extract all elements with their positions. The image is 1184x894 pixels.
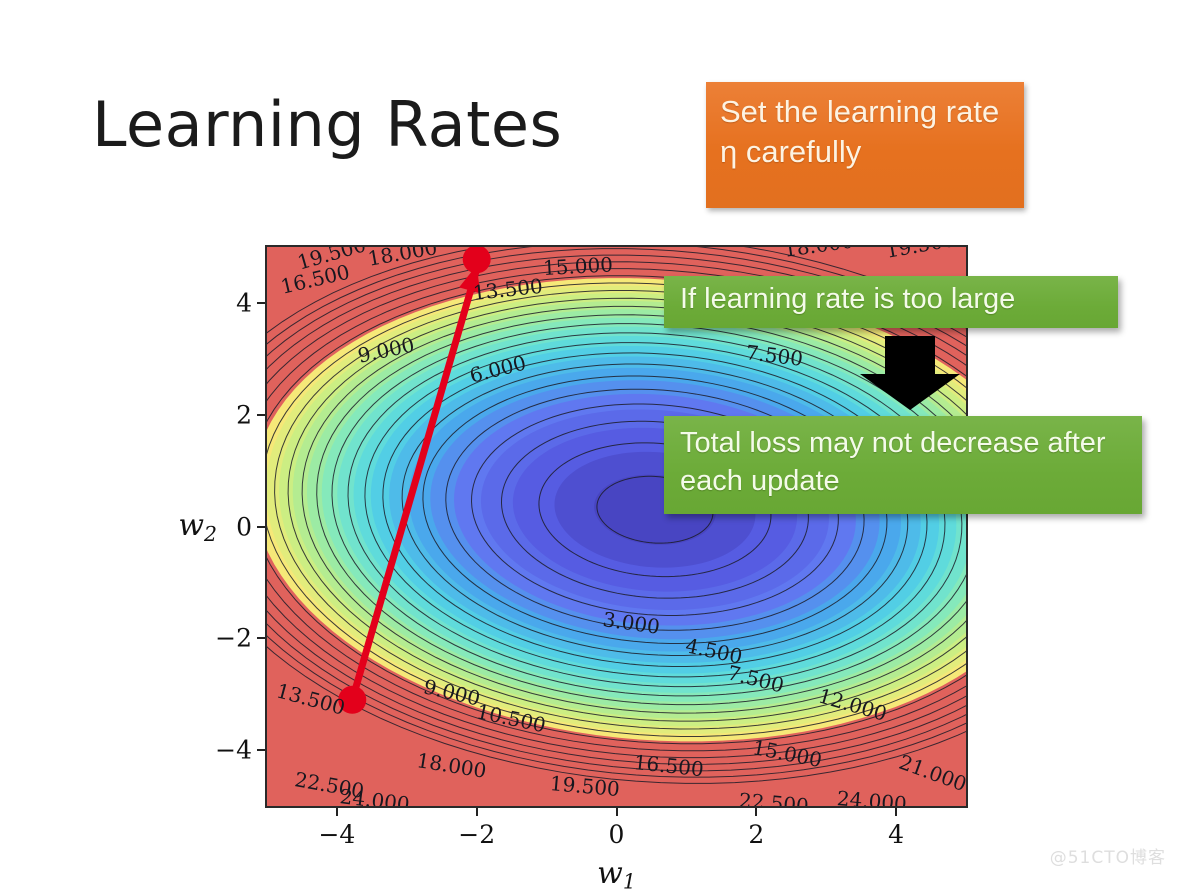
green-callout-total-loss: Total loss may not decrease after each u… [664,416,1142,514]
y-tick-mark [257,637,265,639]
contour-plot: 19.50018.00016.50015.00013.50018.00019.5… [265,245,968,808]
x-tick-label: −2 [458,820,495,849]
y-tick-mark [257,749,265,751]
y-axis-label: w2 [178,508,217,546]
x-tick-mark [755,808,757,816]
page-title: Learning Rates [92,88,562,161]
y-tick-mark [257,526,265,528]
y-tick-label: −2 [215,624,252,653]
watermark: @51CTO博客 [1050,843,1166,868]
y-axis-subscript: 2 [204,521,217,545]
x-tick-mark [616,808,618,816]
orange-callout-box: Set the learning rate η carefully [706,82,1024,208]
slide-root: Learning Rates Set the learning rate η c… [0,0,1184,888]
y-tick-label: 4 [236,288,252,317]
x-tick-mark [476,808,478,816]
x-tick-label: 4 [888,820,904,849]
y-tick-mark [257,302,265,304]
x-tick-mark [336,808,338,816]
y-tick-label: 2 [236,400,252,429]
y-tick-mark [257,414,265,416]
green-callout-1-text: If learning rate is too large [680,283,1015,315]
y-tick-label: 0 [236,512,252,541]
x-tick-label: −4 [318,820,355,849]
update-path-arrow [267,247,966,806]
green-callout-too-large: If learning rate is too large [664,276,1118,328]
x-axis-label: w1 [597,856,636,894]
x-tick-label: 0 [609,820,625,849]
x-axis-subscript: 1 [623,870,636,894]
orange-callout-text: Set the learning rate η carefully [720,92,1010,173]
down-arrow-icon [855,336,965,412]
green-callout-2-text: Total loss may not decrease after each u… [680,427,1106,497]
plot-area: 19.50018.00016.50015.00013.50018.00019.5… [265,245,968,808]
x-tick-label: 2 [748,820,764,849]
x-tick-mark [895,808,897,816]
y-tick-label: −4 [215,736,252,765]
